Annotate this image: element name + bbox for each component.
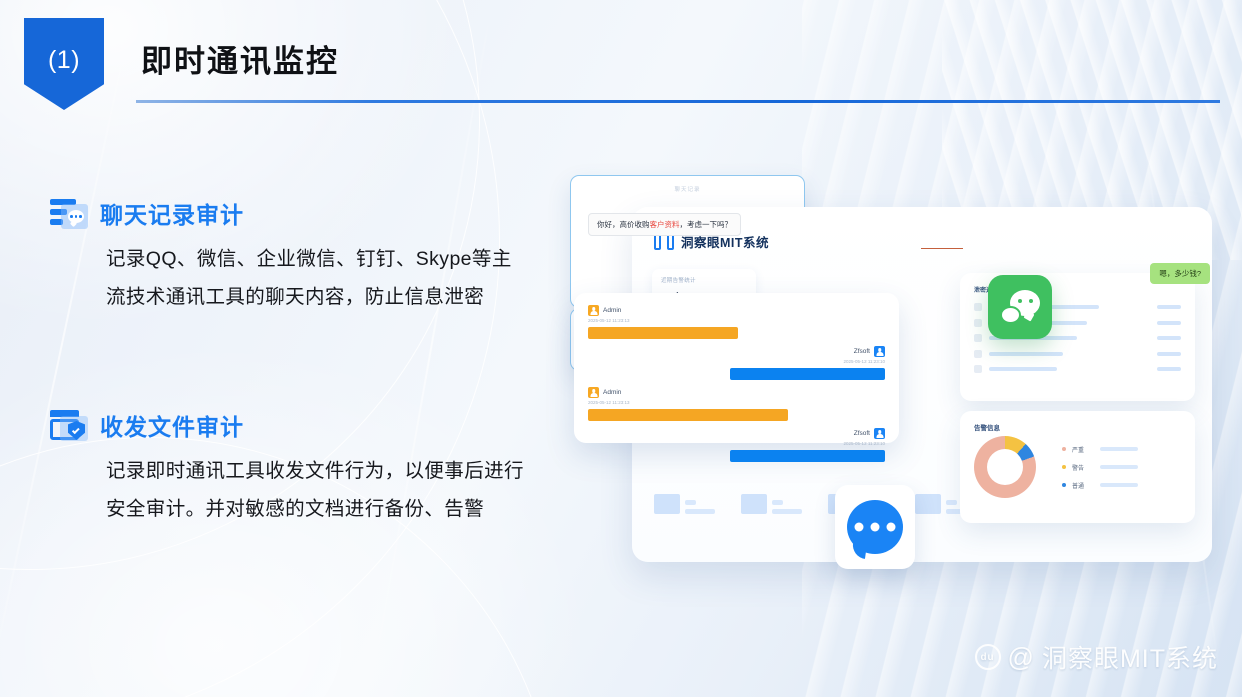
legend-item: 严重: [1062, 445, 1138, 454]
chat-record-name: Admin: [603, 389, 621, 396]
wechat-tile: [988, 275, 1052, 339]
chat-record-time: 2025-05-12 11:23:10: [844, 441, 885, 446]
feature-heading-row: 聊天记录审计: [48, 196, 526, 230]
section-number-badge: (1): [24, 18, 104, 110]
chat-record-bubble: [588, 327, 738, 339]
page-title: 即时通讯监控: [141, 36, 339, 81]
chat-record-meta: Zfsoft: [854, 346, 885, 357]
legend-label: 普通: [1072, 481, 1094, 490]
chat-record-meta: Admin: [588, 387, 885, 398]
chat-record-meta: Admin: [588, 305, 885, 316]
feature-title: 聊天记录审计: [100, 196, 244, 230]
donut-chart-wrap: 严重 警告 普通: [974, 436, 1181, 498]
chat-records-card: Admin 2025-05-12 11:23:13 Zfsoft 2025-05…: [574, 293, 899, 443]
user-avatar-icon: [874, 428, 885, 439]
feature-heading-row: 收发文件审计: [48, 408, 526, 442]
chat-record-bubble: [730, 450, 885, 462]
file-audit-icon: [48, 408, 88, 442]
chat-record-time: 2025-05-12 11:23:13: [588, 318, 885, 323]
chat-audit-icon: [48, 196, 88, 230]
incoming-suffix: ，考虑一下吗？: [680, 220, 733, 229]
legend-item: 普通: [1062, 481, 1138, 490]
legend-label: 警告: [1072, 463, 1094, 472]
alarm-donut-chart: [974, 436, 1036, 498]
legend-label: 严重: [1072, 445, 1094, 454]
chat-record-row: Admin 2025-05-12 11:23:13: [588, 387, 885, 421]
user-avatar-icon: [588, 387, 599, 398]
product-mockup: 洞察眼MIT系统 近期告警统计 20个 泄密途径排行(TOP5) 告警信息: [570, 175, 1230, 575]
watermark: du @ 洞察眼MIT系统: [975, 639, 1218, 675]
legend-item: 警告: [1062, 463, 1138, 472]
incoming-prefix: 你好，高价收购: [597, 220, 650, 229]
feature-description: 记录即时通讯工具收发文件行为，以便事后进行安全审计。并对敏感的文档进行备份、告警: [106, 452, 526, 528]
chat-record-time: 2025-05-12 11:23:13: [588, 400, 885, 405]
title-divider: [136, 100, 1220, 103]
chat-popup-title: 聊天记录: [571, 185, 804, 193]
chat-record-bubble: [588, 409, 788, 421]
streak-1: [0, 8, 134, 690]
alarm-panel-title: 告警信息: [974, 422, 1181, 432]
chat-record-bubble: [730, 368, 885, 380]
alarm-legend: 严重 警告 普通: [1062, 445, 1138, 490]
chat-bubble-icon: [847, 500, 903, 554]
chat-record-name: Zfsoft: [854, 348, 870, 355]
rank-row: [974, 350, 1181, 358]
watermark-text: 洞察眼MIT系统: [1042, 639, 1218, 675]
arc-2: [0, 0, 500, 697]
chat-record-row: Admin 2025-05-12 11:23:13: [588, 305, 885, 339]
incoming-message-bubble: 你好，高价收购客户资料，考虑一下吗？: [588, 213, 741, 236]
baidu-paw-icon: du: [975, 644, 1001, 670]
feature-title: 收发文件审计: [100, 408, 244, 442]
stat-label: 近期告警统计: [661, 276, 747, 284]
sensitive-keyword: 客户资料: [650, 220, 680, 229]
chat-record-meta: Zfsoft: [854, 428, 885, 439]
chat-record-time: 2025-05-12 11:23:10: [844, 359, 885, 364]
chat-record-name: Admin: [603, 307, 621, 314]
feature-block-chat-audit: 聊天记录审计 记录QQ、微信、企业微信、钉钉、Skype等主流技术通讯工具的聊天…: [48, 196, 526, 316]
watermark-at-symbol: @: [1008, 642, 1035, 673]
rank-row: [974, 365, 1181, 373]
streak-2: [369, 5, 492, 692]
chat-record-row: Zfsoft 2025-05-12 11:23:10: [588, 428, 885, 462]
feature-description: 记录QQ、微信、企业微信、钉钉、Skype等主流技术通讯工具的聊天内容，防止信息…: [106, 240, 526, 316]
chat-record-row: Zfsoft 2025-05-12 11:23:10: [588, 346, 885, 380]
outgoing-message-bubble: 嗯，多少钱?: [1150, 263, 1210, 284]
section-number-label: (1): [48, 46, 80, 75]
callout-connector-line: [921, 248, 963, 249]
alarm-info-panel: 告警信息 严重 警告 普通: [960, 411, 1195, 523]
user-avatar-icon: [874, 346, 885, 357]
feature-block-file-audit: 收发文件审计 记录即时通讯工具收发文件行为，以便事后进行安全审计。并对敏感的文档…: [48, 408, 526, 528]
qq-tile: [835, 485, 915, 569]
chat-record-name: Zfsoft: [854, 430, 870, 437]
wechat-icon: [1000, 290, 1040, 324]
user-avatar-icon: [588, 305, 599, 316]
